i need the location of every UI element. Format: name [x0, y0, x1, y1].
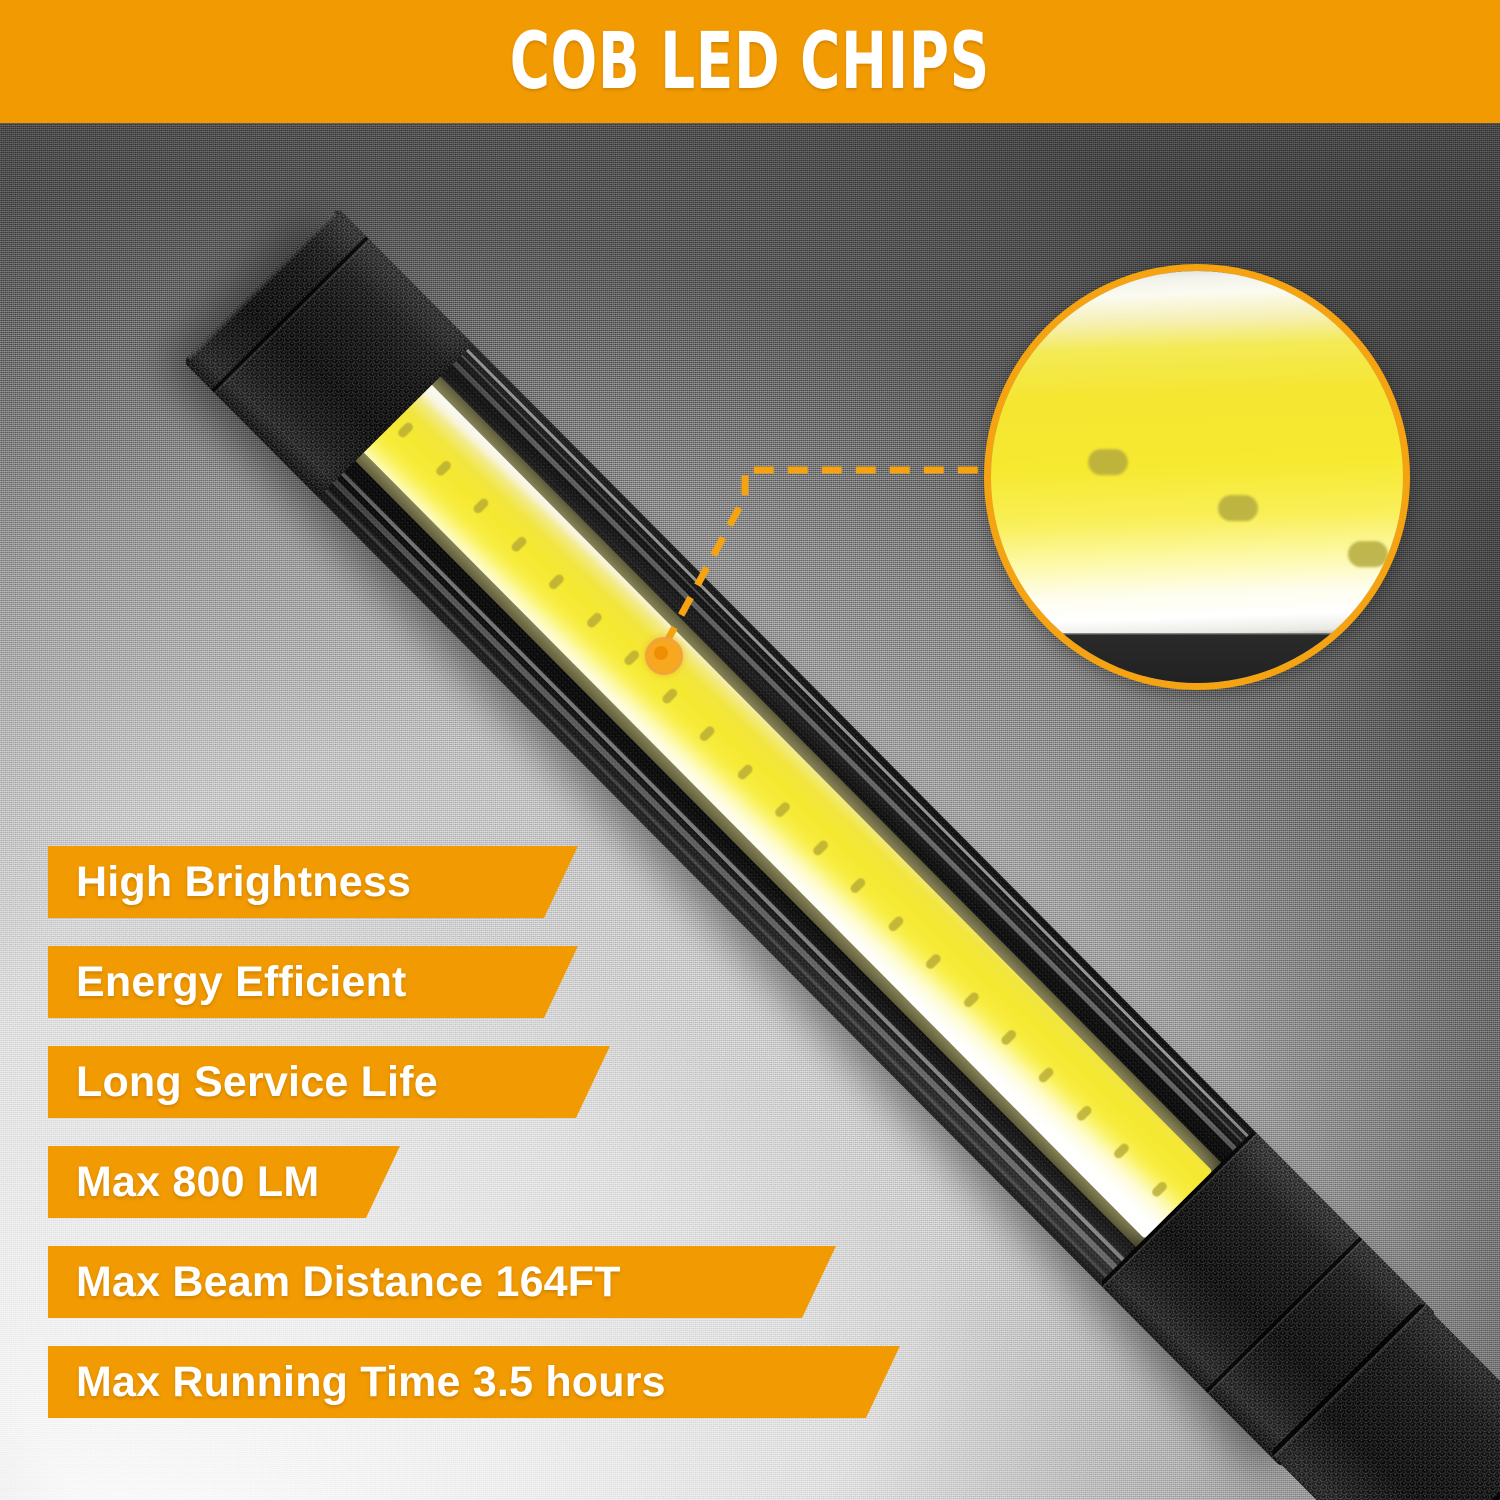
led-solder-dash — [1000, 1028, 1018, 1046]
magnifier-solder-dot — [1218, 495, 1258, 521]
feature-banner-5: Max Running Time 3.5 hours — [48, 1346, 900, 1418]
led-solder-dash — [698, 724, 716, 742]
led-solder-dash — [1113, 1142, 1131, 1160]
led-solder-dash — [1075, 1104, 1093, 1122]
feature-banner-label: Max Beam Distance 164FT — [48, 1261, 647, 1304]
feature-banner-label: High Brightness — [48, 861, 437, 904]
magnifier-content — [984, 264, 1410, 690]
feature-banner-1: Energy Efficient — [48, 946, 578, 1018]
product-infographic: COB LED CHIPS — [0, 0, 1500, 1500]
feature-banner-4: Max Beam Distance 164FT — [48, 1246, 836, 1318]
feature-banner-2: Long Service Life — [48, 1046, 610, 1118]
feature-banner-3: Max 800 LM — [48, 1146, 400, 1218]
led-solder-dash — [472, 497, 490, 515]
page-title: COB LED CHIPS — [510, 23, 990, 101]
led-solder-dash — [548, 573, 566, 591]
feature-banner-label: Max 800 LM — [48, 1161, 345, 1204]
magnifier-solder-dot — [1348, 541, 1388, 567]
magnifier-housing-edge-bottom — [984, 635, 1410, 690]
led-solder-dash — [1151, 1180, 1169, 1198]
magnifier-solder-dot — [1088, 449, 1128, 475]
feature-list: High BrightnessEnergy EfficientLong Serv… — [48, 846, 900, 1446]
magnifier-circle — [984, 264, 1410, 690]
feature-banner-0: High Brightness — [48, 846, 578, 918]
led-solder-dash — [661, 686, 679, 704]
led-solder-dash — [924, 952, 942, 970]
header-bar: COB LED CHIPS — [0, 0, 1500, 123]
led-solder-dash — [962, 990, 980, 1008]
led-solder-dash — [736, 762, 754, 780]
callout-origin-core — [654, 646, 668, 660]
feature-banner-label: Energy Efficient — [48, 961, 433, 1004]
led-solder-dash — [435, 459, 453, 477]
led-solder-dash — [397, 421, 415, 439]
led-solder-dash — [623, 648, 641, 666]
led-solder-dash — [585, 610, 603, 628]
feature-banner-label: Max Running Time 3.5 hours — [48, 1361, 692, 1404]
led-solder-dash — [1038, 1066, 1056, 1084]
led-solder-dash — [510, 535, 528, 553]
feature-banner-label: Long Service Life — [48, 1061, 464, 1104]
magnifier-solder-dots — [984, 264, 1410, 633]
led-solder-dash — [774, 800, 792, 818]
